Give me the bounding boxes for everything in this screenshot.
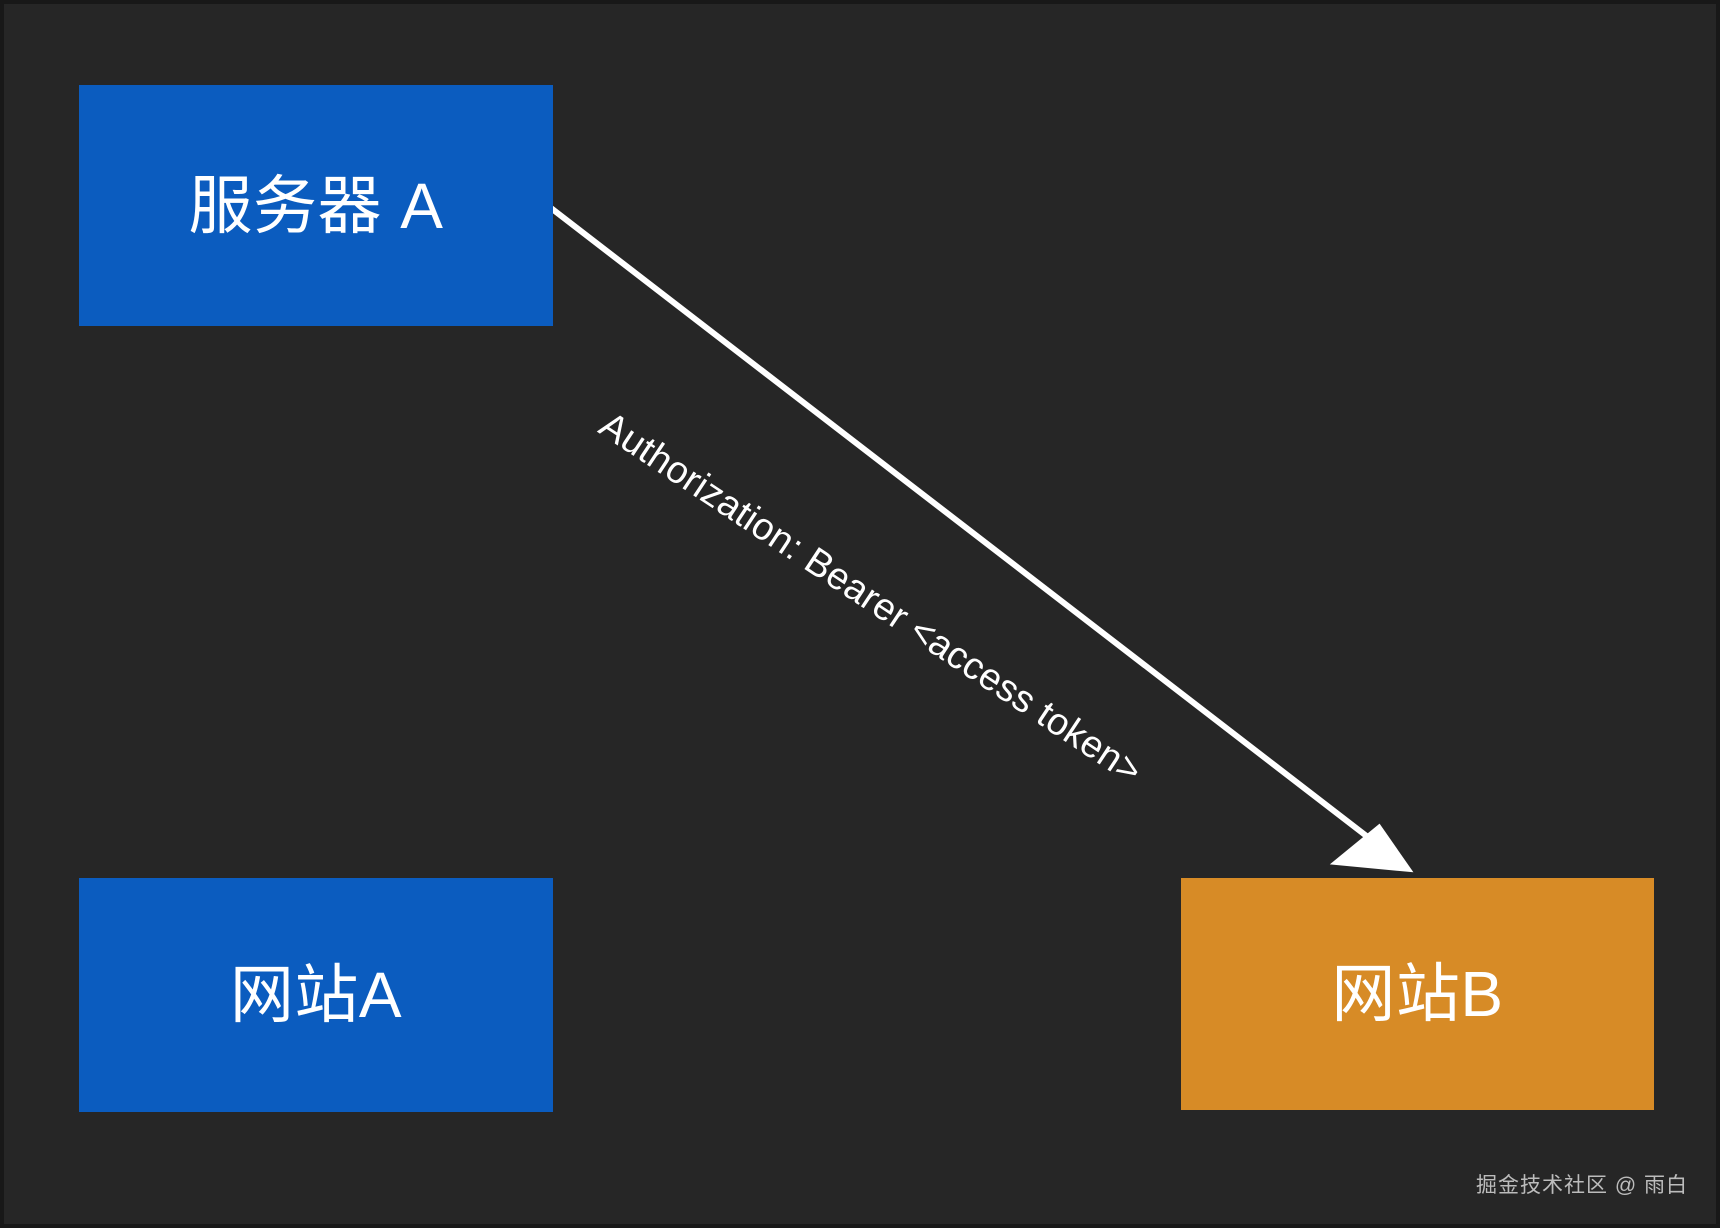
node-site-a[interactable]: 网站A <box>79 878 553 1112</box>
watermark: 掘金技术社区 @ 雨白 <box>1476 1169 1688 1199</box>
arrowhead-icon <box>1330 824 1414 873</box>
node-server-a[interactable]: 服务器 A <box>79 85 553 326</box>
diagram-canvas: Authorization: Bearer <access token> 服务器… <box>0 0 1720 1228</box>
connector-server-a-to-site-b <box>550 208 1413 873</box>
node-server-a-label: 服务器 A <box>189 174 444 238</box>
connector-line <box>550 208 1386 852</box>
node-site-b-label: 网站B <box>1331 962 1503 1026</box>
node-site-a-label: 网站A <box>230 963 402 1027</box>
node-site-b[interactable]: 网站B <box>1181 878 1654 1110</box>
connector-label-authorization: Authorization: Bearer <access token> <box>591 404 1149 794</box>
